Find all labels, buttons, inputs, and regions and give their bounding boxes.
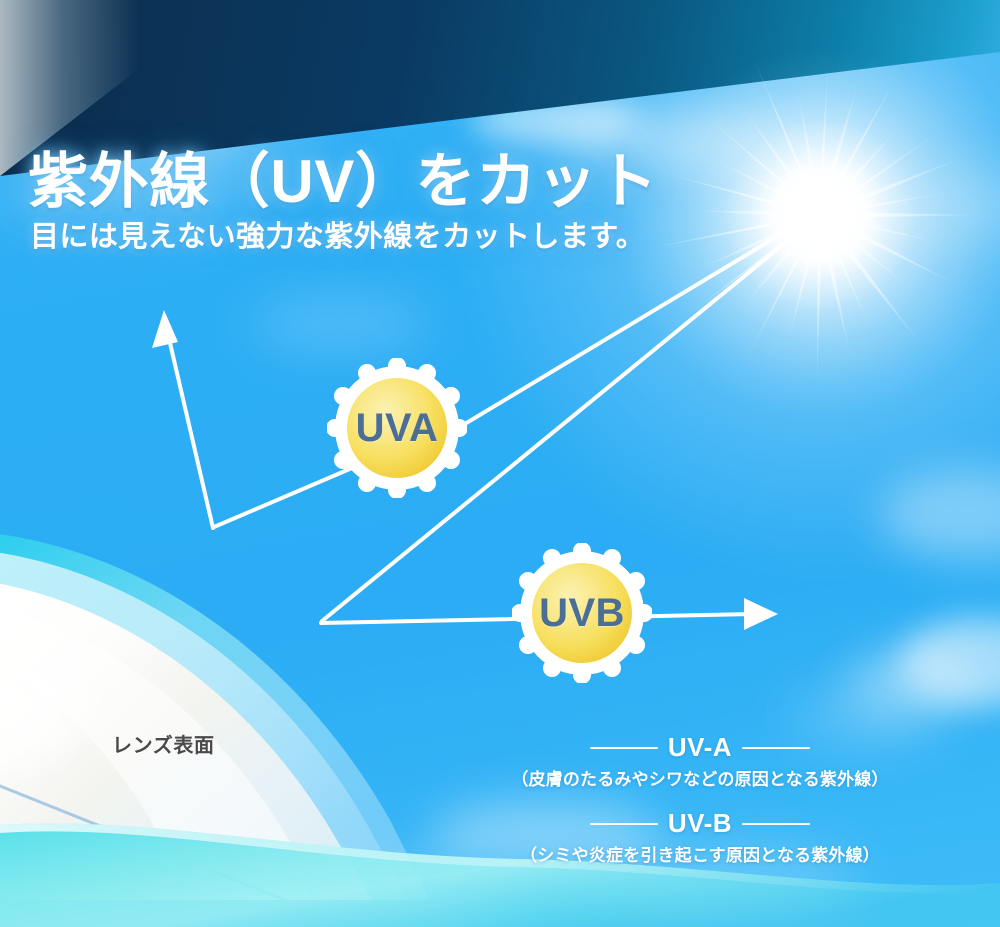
legend-dash-right-icon xyxy=(742,823,810,825)
arrowhead-uvb-through xyxy=(744,598,778,630)
ray-uva-reflected xyxy=(167,330,213,528)
badge-uvb[interactable]: UVB xyxy=(512,543,652,683)
headline-block: 紫外線（UV）をカット 目には見えない強力な紫外線をカットします。 xyxy=(28,150,788,254)
uv-cut-infographic: 紫外線（UV）をカット 目には見えない強力な紫外線をカットします。 xyxy=(0,0,1000,927)
legend-dash-right-icon xyxy=(742,747,810,749)
legend-desc-uv-b: （シミや炎症を引き起こす原因となる紫外線） xyxy=(460,841,940,866)
legend-desc-uv-a: （皮膚のたるみやシワなどの原因となる紫外線） xyxy=(460,765,940,790)
badge-uvb-label: UVB xyxy=(512,543,652,683)
badge-uva[interactable]: UVA xyxy=(327,358,467,498)
legend-item-uv-b: UV-B （シミや炎症を引き起こす原因となる紫外線） xyxy=(460,808,940,866)
legend-dash-left-icon xyxy=(590,747,658,749)
lens-surface-label: レンズ表面 xyxy=(112,729,215,758)
page-subtitle: 目には見えない強力な紫外線をカットします。 xyxy=(30,220,788,255)
legend-key-uv-a: UV-A xyxy=(668,732,732,763)
legend-dash-left-icon xyxy=(590,823,658,825)
badge-uva-label: UVA xyxy=(327,358,467,498)
legend-item-uv-a: UV-A （皮膚のたるみやシワなどの原因となる紫外線） xyxy=(460,732,940,790)
arrowhead-uva-reflected xyxy=(152,310,178,348)
legend-key-uv-b: UV-B xyxy=(668,808,732,839)
uv-legend: UV-A （皮膚のたるみやシワなどの原因となる紫外線） UV-B （シミや炎症を… xyxy=(460,732,940,866)
page-title: 紫外線（UV）をカット xyxy=(28,150,788,214)
